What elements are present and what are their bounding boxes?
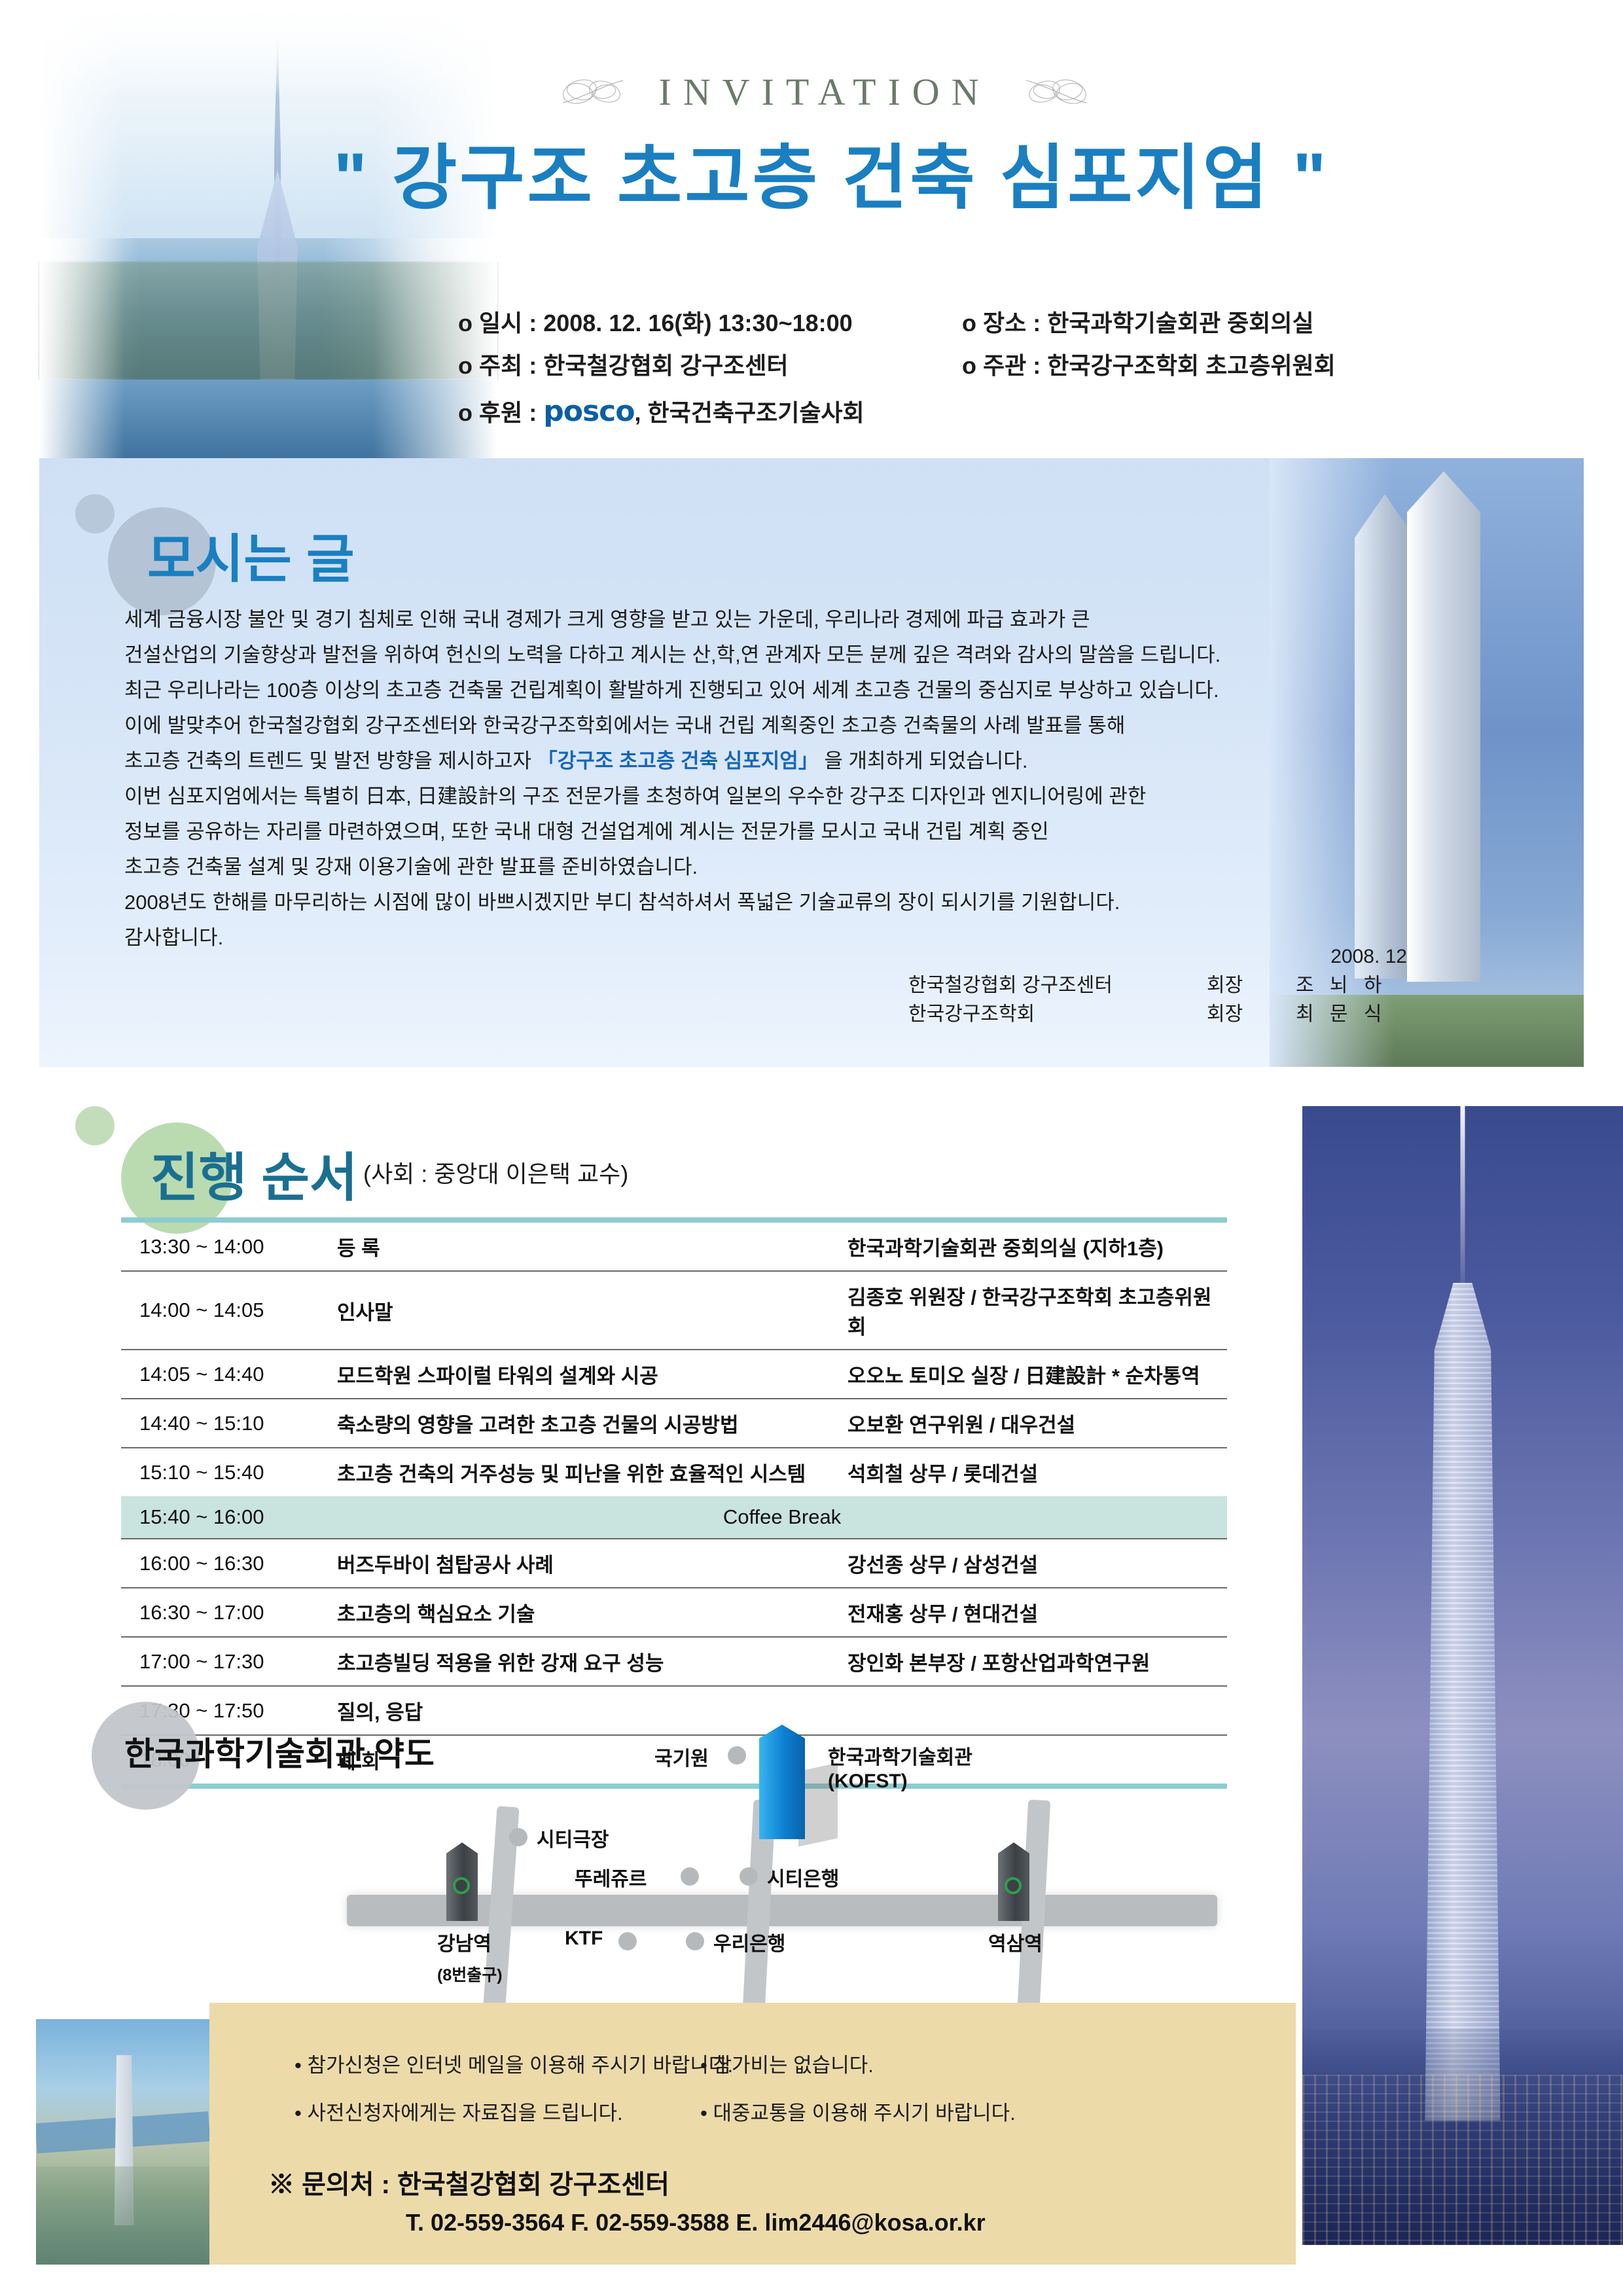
row-time: 14:00 ~ 14:05 bbox=[121, 1271, 337, 1350]
table-row: 14:40 ~ 15:10 축소량의 영향을 고려한 초고층 건물의 시공방법 … bbox=[121, 1399, 1227, 1448]
invitation-label: INVITATION bbox=[658, 70, 990, 114]
subway-mark-gangnam-icon bbox=[453, 1877, 470, 1894]
decor-blob-small-green bbox=[75, 1106, 115, 1145]
signature-org-1: 한국철강협회 강구조센터 bbox=[908, 971, 1190, 1000]
map-dot-gukgiwon bbox=[728, 1746, 746, 1765]
footer-tower-photo bbox=[36, 2019, 209, 2265]
map-label-gukgiwon: 국기원 bbox=[654, 1742, 709, 1771]
map-dot-ktf bbox=[618, 1932, 637, 1950]
row-time: 13:30 ~ 14:00 bbox=[121, 1220, 337, 1271]
map-label-venue-code: (KOFST) bbox=[828, 1770, 908, 1793]
event-meta-block: o 일시 : 2008. 12. 16(화) 13:30~18:00 o 장소 … bbox=[458, 308, 1440, 431]
map-dot-woori-bank bbox=[686, 1932, 704, 1950]
greeting-line-6: 이번 심포지엄에서는 특별히 日本, 日建設計의 구조 전문가를 초청하여 일본… bbox=[124, 779, 1276, 814]
row-speaker: 석희철 상무 / 롯데건설 bbox=[847, 1448, 1227, 1496]
row-speaker: 오오노 토미오 실장 / 日建設計 * 순차통역 bbox=[847, 1350, 1227, 1399]
row-topic: 초고층빌딩 적용을 위한 강재 요구 성능 bbox=[337, 1637, 847, 1686]
decor-blob-small-blue bbox=[75, 494, 115, 533]
row-topic: 초고층의 핵심요소 기술 bbox=[337, 1588, 847, 1637]
sponsor-prefix: o 후원 : bbox=[458, 399, 543, 426]
greeting-tower-right bbox=[1407, 471, 1480, 982]
title-text: 강구조 초고층 건축 심포지엄 bbox=[392, 138, 1270, 217]
greeting-line-5: 초고층 건축의 트렌드 및 발전 방향을 제시하고자 「강구조 초고층 건축 심… bbox=[124, 744, 1276, 779]
signature-row-1: 한국철강협회 강구조센터 회장 조 뇌 하 bbox=[818, 971, 1407, 1000]
signature-org-2: 한국강구조학회 bbox=[908, 1000, 1190, 1029]
page-title: " 강구조 초고층 건축 심포지엄 " bbox=[275, 121, 1387, 223]
kofst-building-icon bbox=[759, 1725, 805, 1839]
row-speaker: 한국과학기술회관 중회의실 (지하1층) bbox=[847, 1220, 1227, 1271]
row-time: 15:10 ~ 15:40 bbox=[121, 1448, 337, 1496]
greeting-line-2: 건설산업의 기술향상과 발전을 위하여 헌신의 노력을 다하고 계시는 산,학,… bbox=[124, 637, 1276, 673]
invitation-banner: INVITATION bbox=[458, 62, 1191, 121]
greeting-hl-after: 을 개최하게 되었습니다. bbox=[819, 749, 1028, 772]
row-time: 15:40 ~ 16:00 bbox=[121, 1496, 337, 1539]
note-item: • 대중교통을 이용해 주시기 바랍니다. bbox=[700, 2096, 1211, 2126]
subway-mark-yeoksam-icon bbox=[1005, 1877, 1022, 1894]
signature-title-2: 회장 bbox=[1207, 1000, 1279, 1029]
meta-supervisor: o 주관 : 한국강구조학회 초고층위원회 bbox=[962, 350, 1440, 382]
map-label-tous-les-jours: 뚜레쥬르 bbox=[575, 1863, 647, 1892]
program-host-label: (사회 : 중앙대 이은택 교수) bbox=[363, 1155, 628, 1189]
map-dot-city-theater bbox=[509, 1828, 527, 1846]
note-item: • 참가신청은 인터넷 메일을 이용해 주시기 바랍니다. bbox=[294, 2049, 700, 2078]
program-heading: 진행 순서 bbox=[151, 1136, 358, 1211]
meta-venue: o 장소 : 한국과학기술회관 중회의실 bbox=[962, 308, 1440, 340]
note-item: • 사전신청자에게는 자료집을 드립니다. bbox=[294, 2096, 700, 2126]
row-time: 14:05 ~ 14:40 bbox=[121, 1350, 337, 1399]
flourish-left-icon bbox=[554, 69, 632, 115]
table-row: 17:00 ~ 17:30 초고층빌딩 적용을 위한 강재 요구 성능 장인화 … bbox=[121, 1637, 1227, 1686]
venue-map: 한국과학기술회관 (KOFST) 국기원 시티극장 뚜레쥬르 시티은행 KTF … bbox=[340, 1702, 1257, 2036]
greeting-line-4: 이에 발맞추어 한국철강협회 강구조센터와 한국강구조학회에서는 국내 건립 계… bbox=[124, 708, 1276, 744]
row-topic: 인사말 bbox=[337, 1271, 847, 1350]
map-heading: 한국과학기술회관 약도 bbox=[124, 1728, 435, 1775]
table-row: 13:30 ~ 14:00 등 록 한국과학기술회관 중회의실 (지하1층) bbox=[121, 1220, 1227, 1271]
table-row: 14:05 ~ 14:40 모드학원 스파이럴 타워의 설계와 시공 오오노 토… bbox=[121, 1350, 1227, 1399]
row-topic: 초고층 건축의 거주성능 및 피난을 위한 효율적인 시스템 bbox=[337, 1448, 847, 1496]
map-dot-tous-les-jours bbox=[681, 1867, 699, 1886]
row-topic: Coffee Break bbox=[337, 1496, 1227, 1539]
signature-row-2: 한국강구조학회 회장 최 문 식 bbox=[818, 1000, 1407, 1029]
meta-sponsor: o 후원 : posco, 한국건축구조기술사회 bbox=[458, 392, 1440, 431]
table-row: 16:30 ~ 17:00 초고층의 핵심요소 기술 전재홍 상무 / 현대건설 bbox=[121, 1588, 1227, 1637]
title-quote-open: " bbox=[334, 138, 370, 217]
flourish-right-icon bbox=[1017, 69, 1096, 115]
map-label-ktf: KTF bbox=[565, 1928, 603, 1950]
posco-logo: posco bbox=[543, 395, 634, 428]
table-row: 16:00 ~ 16:30 버즈두바이 첨탑공사 사례 강선종 상무 / 삼성건… bbox=[121, 1539, 1227, 1588]
note-item: • 참가비는 없습니다. bbox=[700, 2049, 1211, 2078]
greeting-line-1: 세계 금융시장 불안 및 경기 침체로 인해 국내 경제가 크게 영향을 받고 … bbox=[124, 602, 1276, 637]
row-time: 16:30 ~ 17:00 bbox=[121, 1588, 337, 1637]
greeting-signature-block: 2008. 12 한국철강협회 강구조센터 회장 조 뇌 하 한국강구조학회 회… bbox=[818, 942, 1407, 1029]
row-speaker: 전재홍 상무 / 현대건설 bbox=[847, 1588, 1227, 1637]
map-label-city-theater: 시티극장 bbox=[537, 1823, 609, 1852]
row-topic: 버즈두바이 첨탑공사 사례 bbox=[337, 1539, 847, 1588]
table-row: 14:00 ~ 14:05 인사말 김종호 위원장 / 한국강구조학회 초고층위… bbox=[121, 1271, 1227, 1350]
row-topic: 축소량의 영향을 고려한 초고층 건물의 시공방법 bbox=[337, 1399, 847, 1448]
greeting-line-8: 초고층 건축물 설계 및 강재 이용기술에 관한 발표를 준비하였습니다. bbox=[124, 850, 1276, 885]
sponsor-suffix: , 한국건축구조기술사회 bbox=[634, 399, 864, 426]
meta-datetime: o 일시 : 2008. 12. 16(화) 13:30~18:00 bbox=[458, 308, 962, 340]
table-row: 15:10 ~ 15:40 초고층 건축의 거주성능 및 피난을 위한 효율적인… bbox=[121, 1448, 1227, 1496]
greeting-line-3: 최근 우리나라는 100층 이상의 초고층 건축물 건립계획이 활발하게 진행되… bbox=[124, 673, 1276, 708]
row-speaker: 김종호 위원장 / 한국강구조학회 초고층위원회 bbox=[847, 1271, 1227, 1350]
greeting-symposium-highlight: 「강구조 초고층 건축 심포지엄」 bbox=[537, 749, 819, 772]
contact-detail: T. 02-559-3564 F. 02-559-3588 E. lim2446… bbox=[406, 2209, 986, 2236]
map-label-woori-bank: 우리은행 bbox=[713, 1928, 785, 1956]
tower-light-beam bbox=[1461, 1106, 1465, 1302]
hero-skyline-photo bbox=[39, 0, 497, 458]
row-topic: 등 록 bbox=[337, 1220, 847, 1271]
title-quote-close: " bbox=[1293, 138, 1329, 217]
row-topic: 모드학원 스파이럴 타워의 설계와 시공 bbox=[337, 1350, 847, 1399]
meta-organizer: o 주최 : 한국철강협회 강구조센터 bbox=[458, 350, 962, 382]
map-label-gangnam-station: 강남역 bbox=[437, 1928, 491, 1956]
greeting-line-9: 2008년도 한해를 마무리하는 시점에 많이 바쁘시겠지만 부디 참석하셔서 … bbox=[124, 885, 1276, 920]
row-time: 17:00 ~ 17:30 bbox=[121, 1637, 337, 1686]
greeting-line-7: 정보를 공유하는 자리를 마련하였으며, 또한 국내 대형 건설업계에 계시는 … bbox=[124, 814, 1276, 850]
map-label-yeoksam-station: 역삼역 bbox=[988, 1928, 1043, 1956]
table-row-coffee-break: 15:40 ~ 16:00 Coffee Break bbox=[121, 1496, 1227, 1539]
hero-fade-top bbox=[39, 0, 497, 98]
row-time: 14:40 ~ 15:10 bbox=[121, 1399, 337, 1448]
night-tower-photo bbox=[1302, 1106, 1623, 2245]
night-tower-body bbox=[1404, 1283, 1522, 2121]
signature-date: 2008. 12 bbox=[818, 942, 1407, 971]
greeting-hl-before: 초고층 건축의 트렌드 및 발전 방향을 제시하고자 bbox=[124, 749, 537, 772]
row-speaker: 강선종 상무 / 삼성건설 bbox=[847, 1539, 1227, 1588]
contact-title: ※ 문의처 : 한국철강협회 강구조센터 bbox=[268, 2163, 669, 2201]
map-dot-citibank bbox=[740, 1867, 758, 1886]
night-city-lights bbox=[1302, 2075, 1623, 2245]
header-section: INVITATION " 강구조 초고층 건축 심포지엄 " o 일시 : 20… bbox=[0, 0, 1623, 458]
signature-title-1: 회장 bbox=[1207, 971, 1279, 1000]
greeting-body: 세계 금융시장 불안 및 경기 침체로 인해 국내 경제가 크게 영향을 받고 … bbox=[124, 602, 1276, 956]
map-label-venue: 한국과학기술회관 bbox=[828, 1741, 972, 1770]
signature-name-1: 조 뇌 하 bbox=[1296, 971, 1407, 1000]
greeting-heading: 모시는 글 bbox=[147, 517, 355, 593]
map-label-gangnam-exit: (8번출구) bbox=[437, 1962, 503, 1986]
signature-name-2: 최 문 식 bbox=[1296, 1000, 1407, 1029]
row-speaker: 오보환 연구위원 / 대우건설 bbox=[847, 1399, 1227, 1448]
row-speaker: 장인화 본부장 / 포항산업과학연구원 bbox=[847, 1637, 1227, 1686]
footer-notes: • 참가신청은 인터넷 메일을 이용해 주시기 바랍니다. • 참가비는 없습니… bbox=[294, 2049, 1211, 2126]
footer-ground bbox=[36, 2166, 209, 2265]
map-label-citibank: 시티은행 bbox=[767, 1863, 839, 1892]
row-time: 16:00 ~ 16:30 bbox=[121, 1539, 337, 1588]
